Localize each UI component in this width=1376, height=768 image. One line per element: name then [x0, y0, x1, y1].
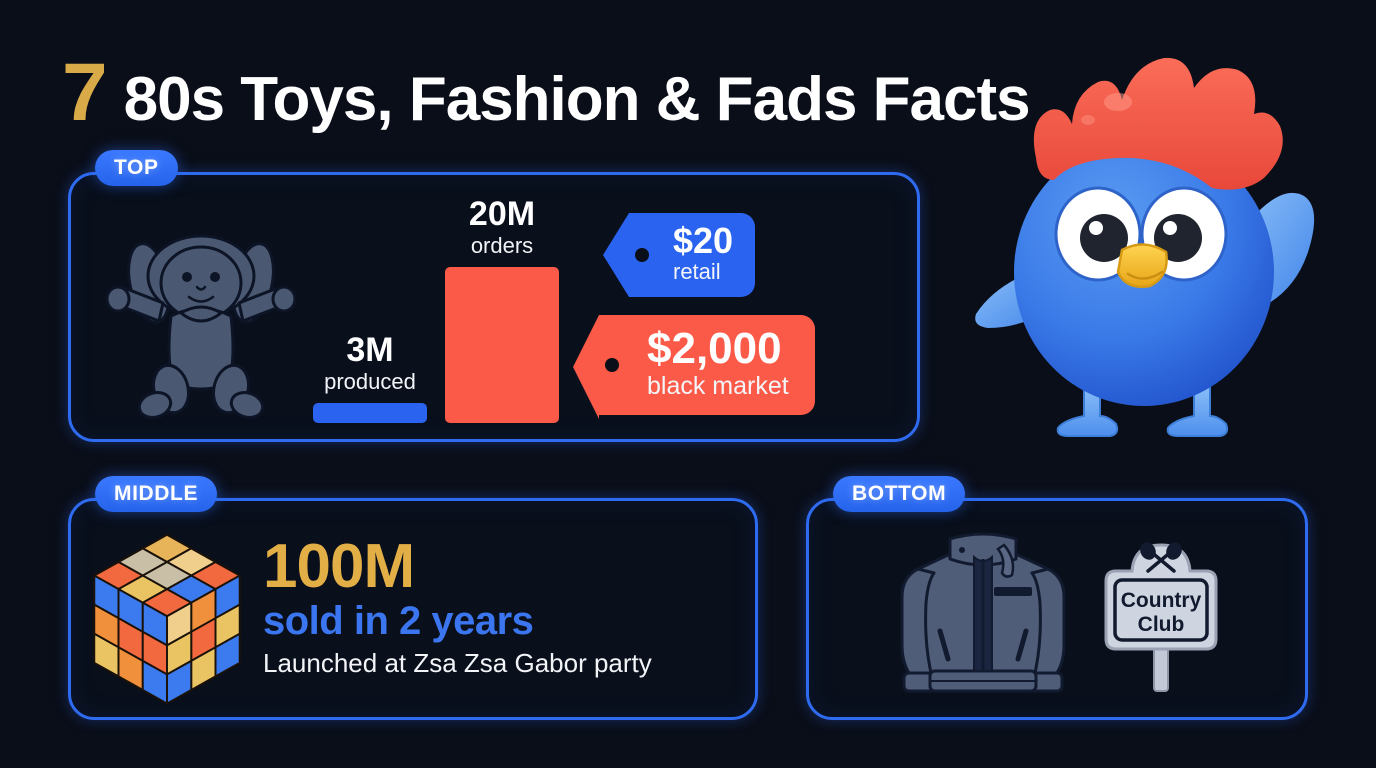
bar-item-orders: 20M orders: [445, 197, 559, 423]
sign-line-2: Club: [1138, 613, 1185, 636]
price-tag-retail: $20 retail: [629, 213, 755, 297]
bomber-jacket-icon: [888, 525, 1078, 705]
mascot-beak: [1118, 244, 1167, 286]
bar-item-produced: 3M produced: [313, 333, 427, 423]
badge-middle: MIDDLE: [95, 476, 217, 512]
rubiks-cube-icon: [93, 529, 241, 689]
price-tag-black-market: $2,000 black market: [599, 315, 815, 415]
panel-top-content: 3M produced 20M orders $20 retail: [71, 175, 917, 439]
middle-note: Launched at Zsa Zsa Gabor party: [263, 647, 652, 681]
sign-line-1: Country: [1121, 589, 1202, 612]
infographic-canvas: 7 80s Toys, Fashion & Fads Facts TOP: [0, 0, 1376, 768]
middle-big-number: 100M: [263, 537, 652, 598]
tag-label: black market: [647, 371, 789, 401]
bar-value: 3M: [346, 333, 393, 368]
panel-bottom-content: Country Club: [809, 501, 1305, 717]
country-club-sign-icon: Country Club: [1096, 535, 1226, 695]
middle-subtitle: sold in 2 years: [263, 598, 652, 644]
price-tags: $20 retail $2,000 black market: [599, 213, 899, 415]
panel-middle-content: 100M sold in 2 years Launched at Zsa Zsa…: [71, 501, 755, 717]
title-text: 80s Toys, Fashion & Fads Facts: [124, 69, 1030, 131]
badge-top: TOP: [95, 150, 178, 186]
title-number: 7: [62, 52, 106, 134]
tag-hole-icon: [605, 358, 619, 372]
bar-chart: 3M produced 20M orders: [313, 197, 559, 423]
tag-hole-icon: [635, 248, 649, 262]
badge-bottom: BOTTOM: [833, 476, 965, 512]
panel-middle: MIDDLE: [68, 498, 758, 720]
tag-label: retail: [673, 259, 733, 285]
cabbage-patch-doll-icon: [101, 221, 301, 421]
bar-rect-produced: [313, 403, 427, 423]
panel-top: TOP: [68, 172, 920, 442]
tag-amount: $20: [673, 223, 733, 259]
bar-label: orders: [471, 232, 533, 260]
page-title: 7 80s Toys, Fashion & Fads Facts: [62, 52, 1030, 134]
tag-amount: $2,000: [647, 327, 789, 371]
bar-rect-orders: [445, 267, 559, 423]
bar-value: 20M: [469, 197, 535, 232]
blue-bird-mascot: [958, 28, 1334, 460]
bar-label: produced: [324, 368, 416, 396]
middle-text-block: 100M sold in 2 years Launched at Zsa Zsa…: [263, 537, 652, 681]
panel-bottom: BOTTOM: [806, 498, 1308, 720]
